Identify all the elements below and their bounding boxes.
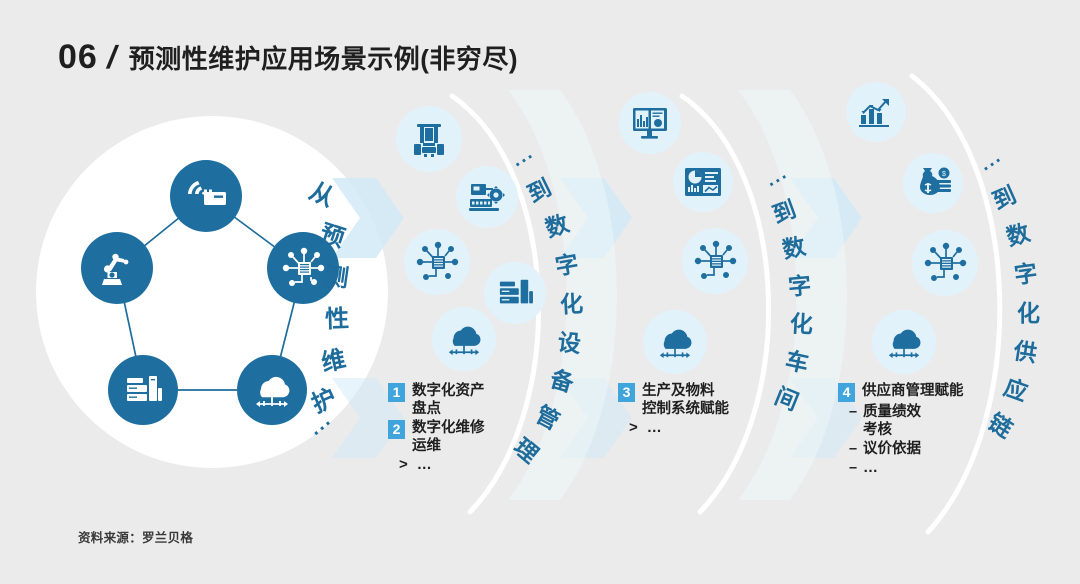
list-item[interactable]: 3 生产及物料控制系统赋能 (618, 382, 768, 418)
more-item[interactable]: > … (388, 456, 518, 474)
item-label: 生产及物料控制系统赋能 (642, 382, 729, 418)
server-rack-icon (484, 262, 546, 324)
page-header: 06 / 预测性维护应用场景示例(非穷尽) (58, 40, 518, 74)
network-chip-icon (912, 230, 978, 296)
robot-arm-icon (81, 232, 153, 304)
item-label: 供应商管理赋能 (862, 382, 964, 400)
sub-item[interactable]: – … (838, 459, 1018, 477)
sub-item-label: 质量绩效考核 (863, 403, 921, 439)
cloud-data-icon (237, 355, 307, 425)
server-rack-icon (108, 355, 178, 425)
stage3-items: 3 生产及物料控制系统赋能 > … (618, 382, 768, 438)
factory-machine-icon (396, 106, 462, 172)
dash-marker: – (849, 459, 863, 477)
more-label: … (647, 419, 664, 437)
machine-gear-icon (456, 166, 518, 228)
dashboard-panel-icon (673, 152, 733, 212)
stage4-items: 4 供应商管理赋能 – 质量绩效考核 – 议价依据 – … (838, 382, 1018, 477)
more-label: … (417, 456, 434, 474)
svg-text:$: $ (942, 171, 946, 178)
item-badge: 2 (388, 420, 405, 439)
source-note: 资料来源：罗兰贝格 (78, 527, 193, 546)
chevron-right-icon: > (399, 456, 408, 474)
sub-item-label: … (863, 459, 880, 477)
sub-item-label: 议价依据 (863, 440, 921, 458)
more-item[interactable]: > … (618, 419, 768, 437)
cloud-data-icon (643, 310, 707, 374)
list-item[interactable]: 4 供应商管理赋能 (838, 382, 1018, 402)
chevron-right-icon: > (629, 419, 638, 437)
monitor-analytics-icon (619, 92, 681, 154)
item-label: 数字化资产盘点 (412, 382, 485, 418)
item-label: 数字化维修运维 (412, 419, 485, 455)
list-item[interactable]: 1 数字化资产盘点 (388, 382, 518, 418)
growth-chart-icon (846, 82, 906, 142)
network-chip-icon (404, 229, 470, 295)
cloud-data-icon (432, 307, 496, 371)
item-badge: 3 (618, 383, 635, 402)
cloud-data-icon (872, 310, 936, 374)
header-separator: / (104, 41, 120, 73)
dash-marker: – (849, 403, 863, 421)
header-number: 06 (58, 40, 98, 74)
item-badge: 4 (838, 383, 855, 402)
money-bag-icon: $ (903, 153, 963, 213)
sub-item[interactable]: – 质量绩效考核 (838, 403, 1018, 439)
sub-item[interactable]: – 议价依据 (838, 440, 1018, 458)
page-title: 预测性维护应用场景示例(非穷尽) (129, 46, 518, 72)
list-item[interactable]: 2 数字化维修运维 (388, 419, 518, 455)
item-badge: 1 (388, 383, 405, 402)
stage2-items: 1 数字化资产盘点 2 数字化维修运维 > … (388, 382, 518, 475)
network-chip-icon (682, 228, 748, 294)
dash-marker: – (849, 440, 863, 458)
sensor-transmitter-icon (170, 160, 242, 232)
